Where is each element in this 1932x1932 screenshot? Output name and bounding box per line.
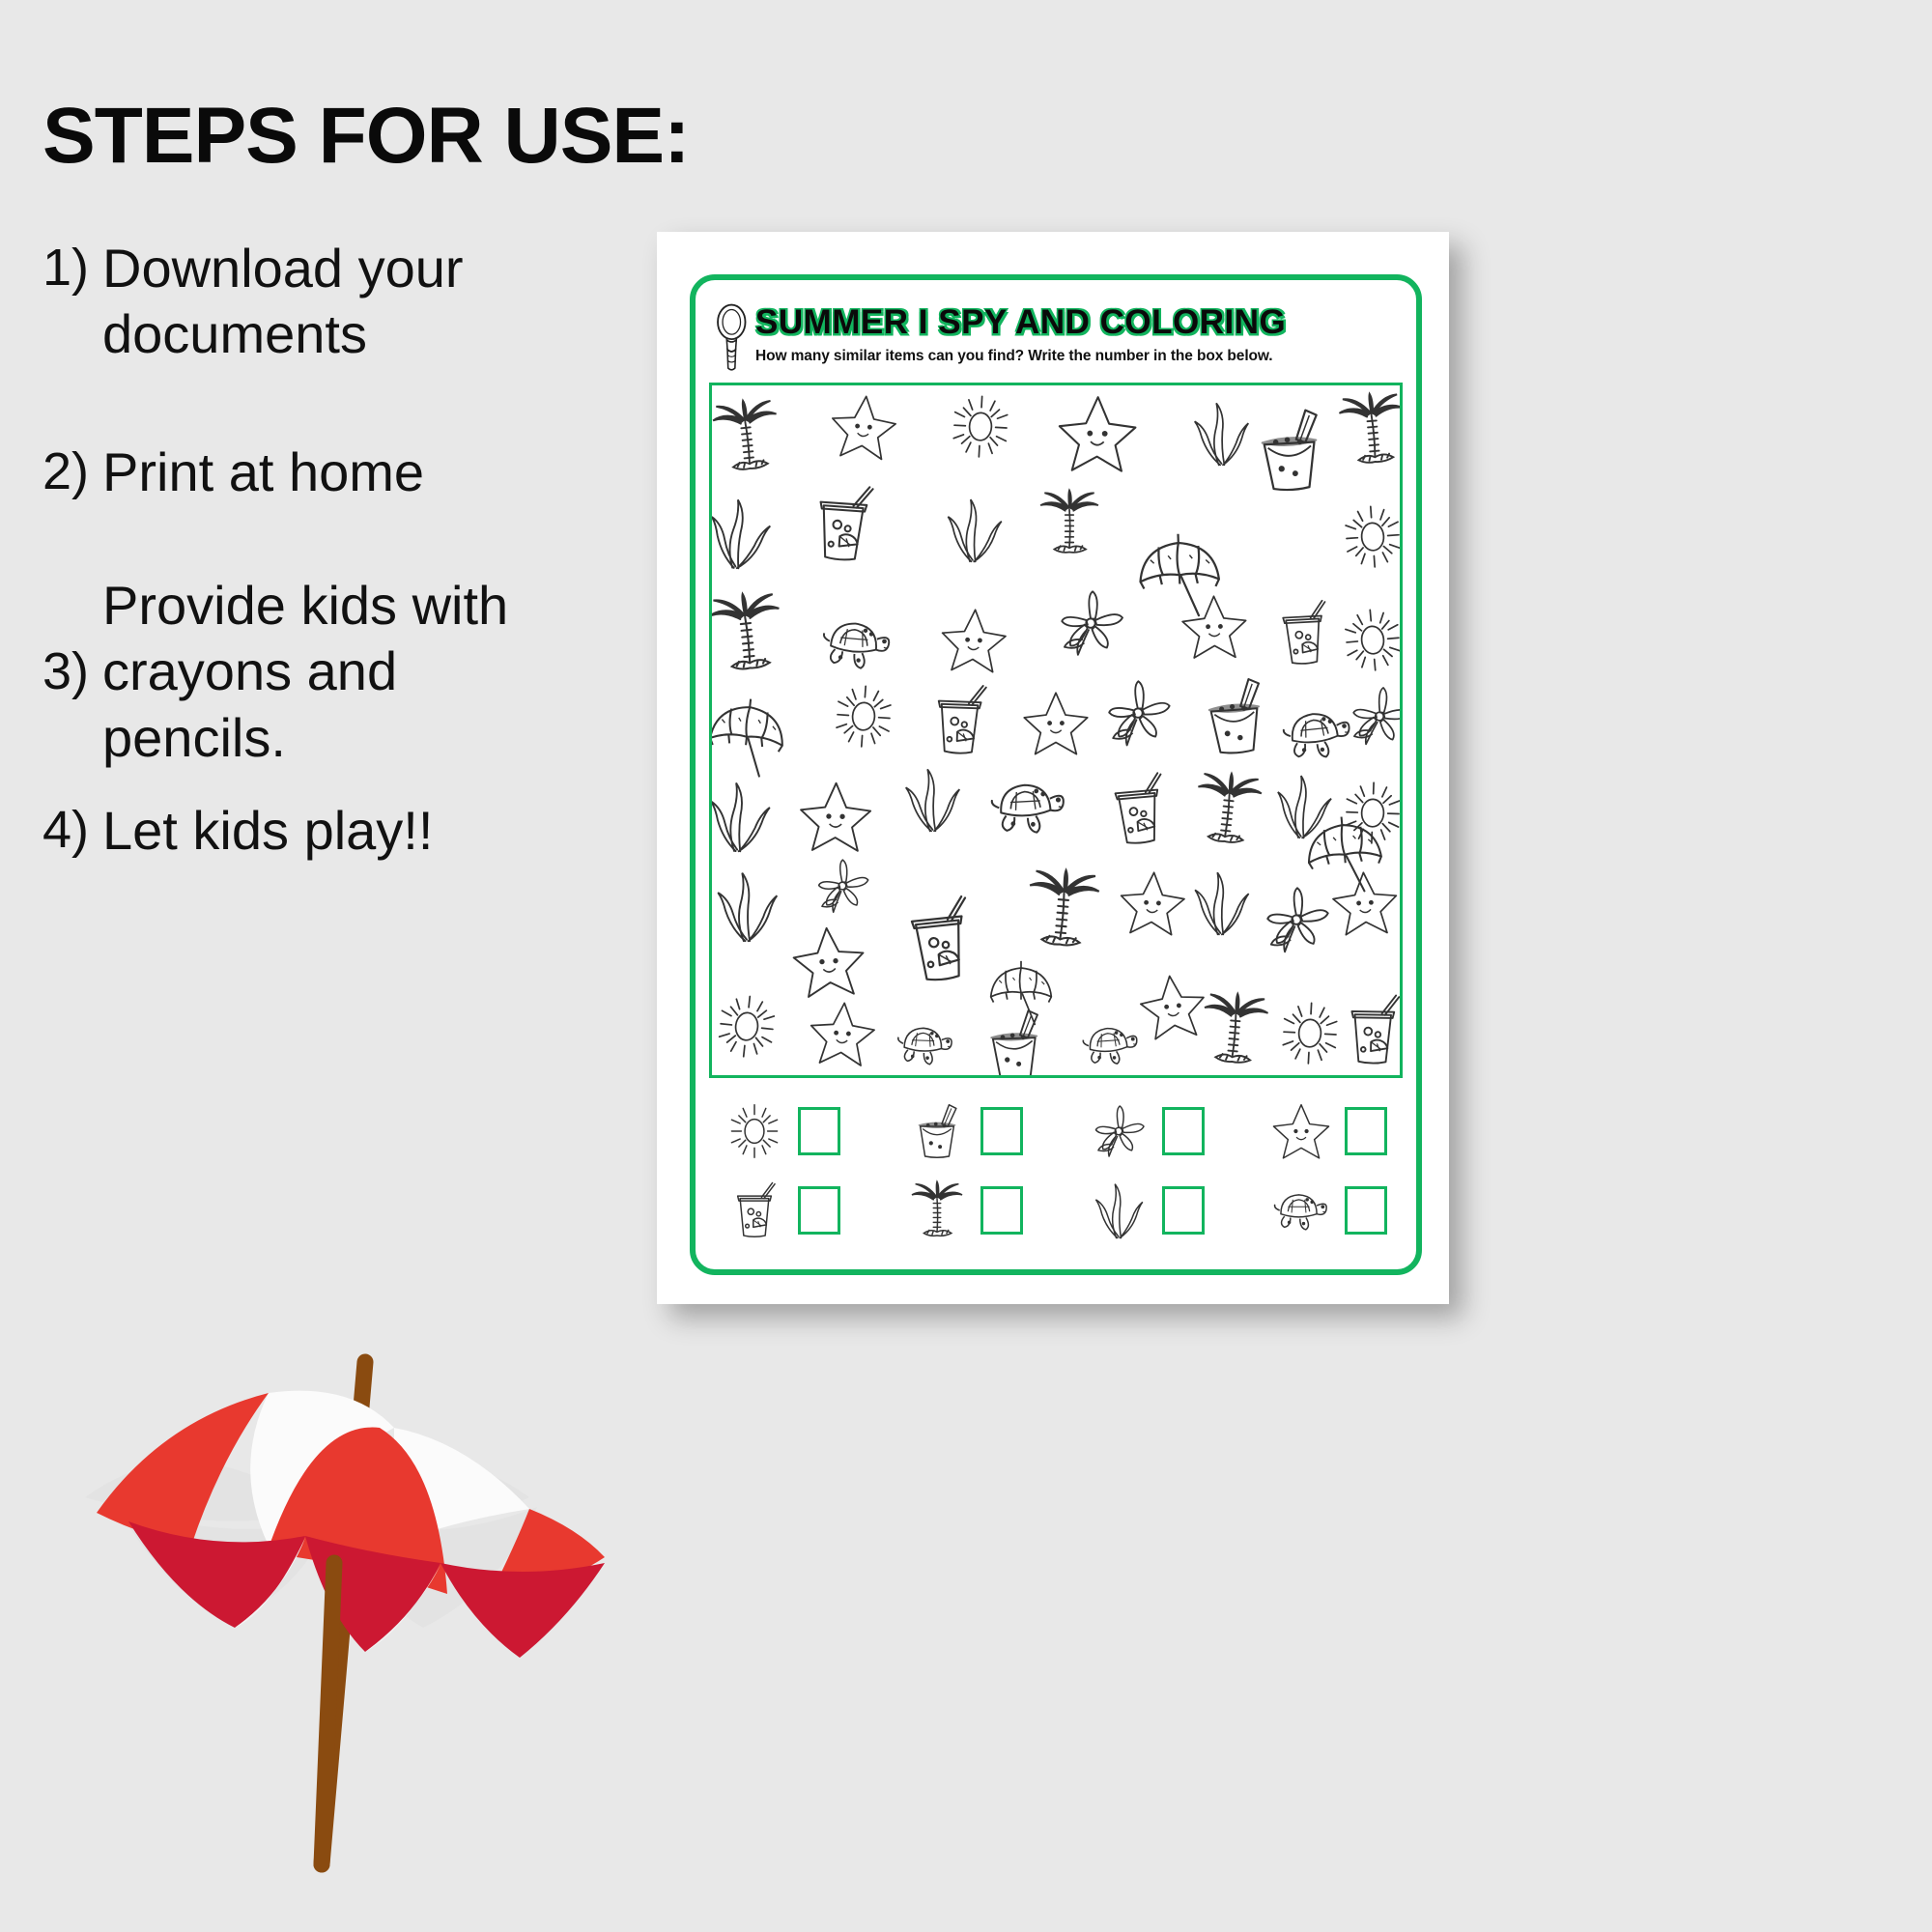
starfish-icon[interactable] [797,778,874,855]
drink-cup-icon[interactable] [890,892,988,990]
answer-count-box[interactable] [1162,1107,1205,1155]
instruction-step-1: 1) Download your documents [43,236,680,368]
turtle-icon[interactable] [815,603,897,685]
starfish-icon[interactable] [826,389,900,464]
answer-key-row [724,1171,1387,1250]
answer-key-item-drink-cup [724,1180,840,1240]
turtle-icon[interactable] [985,763,1072,850]
step-number: 1) [43,236,89,300]
turtle-icon [1271,1180,1331,1240]
answer-count-box[interactable] [980,1186,1023,1235]
beach-umbrella-icon[interactable] [1300,810,1390,899]
turtle-icon[interactable] [894,1012,957,1076]
seaweed-icon [1089,1180,1149,1240]
palm-tree-icon[interactable] [1018,865,1108,954]
page-title: STEPS FOR USE: [43,97,680,176]
palm-tree-icon[interactable] [1194,989,1276,1071]
beach-umbrella-icon [75,1304,616,1884]
answer-key-item-flower [1089,1101,1205,1161]
starfish-icon[interactable] [1116,867,1188,939]
worksheet-header: SUMMER I SPY AND COLORING How many simil… [709,296,1403,373]
step-number: 4) [43,798,89,863]
step-text: Download your documents [102,236,614,368]
turtle-icon[interactable] [1078,1011,1144,1077]
seaweed-icon[interactable] [1186,867,1256,937]
starfish-icon[interactable] [788,921,869,1002]
step-text: Provide kids with crayons and pencils. [102,573,566,771]
ispy-puzzle-area[interactable] [709,383,1403,1078]
seaweed-icon[interactable] [897,764,967,834]
flower-icon [1089,1101,1149,1161]
worksheet-title: SUMMER I SPY AND COLORING [755,305,1401,341]
starfish-icon[interactable] [937,605,1009,677]
drink-cup-icon[interactable] [1097,769,1179,851]
product-listing-page: STEPS FOR USE: 1) Download your document… [0,0,1932,1932]
answer-key-row [724,1092,1387,1171]
answer-key-item-sand-bucket [907,1101,1023,1161]
answer-count-box[interactable] [1162,1186,1205,1235]
drink-cup-icon[interactable] [799,479,887,567]
sun-icon[interactable] [709,989,784,1065]
sun-icon[interactable] [944,390,1016,463]
flower-icon[interactable] [1052,584,1129,662]
instruction-step-3: 3) Provide kids with crayons and pencils… [43,573,680,771]
sand-bucket-icon[interactable] [976,1005,1054,1078]
seaweed-icon[interactable] [938,495,1009,566]
worksheet-title-block: SUMMER I SPY AND COLORING How many simil… [755,299,1401,365]
answer-key-section [709,1078,1403,1256]
starfish-icon[interactable] [1179,592,1249,662]
sun-icon [724,1101,784,1161]
drink-cup-icon [724,1180,784,1240]
answer-key-item-turtle [1271,1180,1387,1240]
flower-icon[interactable] [1342,679,1403,753]
drink-cup-icon[interactable] [921,681,999,759]
answer-count-box[interactable] [1345,1186,1387,1235]
worksheet-subtitle: How many similar items can you find? Wri… [755,348,1401,365]
starfish-icon[interactable] [1055,391,1139,475]
starfish-icon[interactable] [1021,689,1090,757]
seaweed-icon[interactable] [709,492,781,575]
drink-cup-icon[interactable] [1267,598,1340,670]
step-text: Print at home [102,440,424,505]
palm-tree-icon[interactable] [1331,389,1403,471]
palm-tree-icon[interactable] [709,588,792,679]
answer-key-item-palm-tree [907,1180,1023,1240]
answer-key-item-starfish [1271,1101,1387,1161]
step-number: 2) [43,440,89,504]
sun-icon[interactable] [827,680,900,753]
drink-cup-icon[interactable] [1334,992,1403,1069]
answer-count-box[interactable] [1345,1107,1387,1155]
palm-tree-icon[interactable] [1186,768,1269,851]
palm-tree-icon[interactable] [1036,489,1104,557]
sand-bucket-icon[interactable] [1242,404,1336,497]
sun-icon[interactable] [1335,604,1403,678]
step-number: 3) [43,639,89,704]
seaweed-icon[interactable] [709,868,784,944]
beach-umbrella-icon[interactable] [709,692,792,782]
answer-key-item-sun [724,1101,840,1161]
instruction-step-2: 2) Print at home [43,440,680,505]
magnifying-glass-icon [713,301,752,373]
worksheet-border-frame: SUMMER I SPY AND COLORING How many simil… [690,274,1422,1275]
answer-key-item-seaweed [1089,1180,1205,1240]
seaweed-icon[interactable] [709,777,780,856]
flower-icon[interactable] [1099,674,1178,753]
answer-count-box[interactable] [798,1107,840,1155]
worksheet-preview[interactable]: SUMMER I SPY AND COLORING How many simil… [657,232,1449,1304]
flower-icon[interactable] [810,853,874,917]
sand-bucket-icon[interactable] [1191,672,1279,760]
palm-tree-icon [907,1180,967,1240]
answer-count-box[interactable] [798,1186,840,1235]
answer-count-box[interactable] [980,1107,1023,1155]
palm-tree-icon[interactable] [709,395,788,478]
sun-icon[interactable] [1336,500,1403,574]
starfish-icon [1271,1101,1331,1161]
instruction-step-4: 4) Let kids play!! [43,798,680,864]
starfish-icon[interactable] [806,997,879,1070]
sand-bucket-icon [907,1101,967,1161]
step-text: Let kids play!! [102,798,433,864]
